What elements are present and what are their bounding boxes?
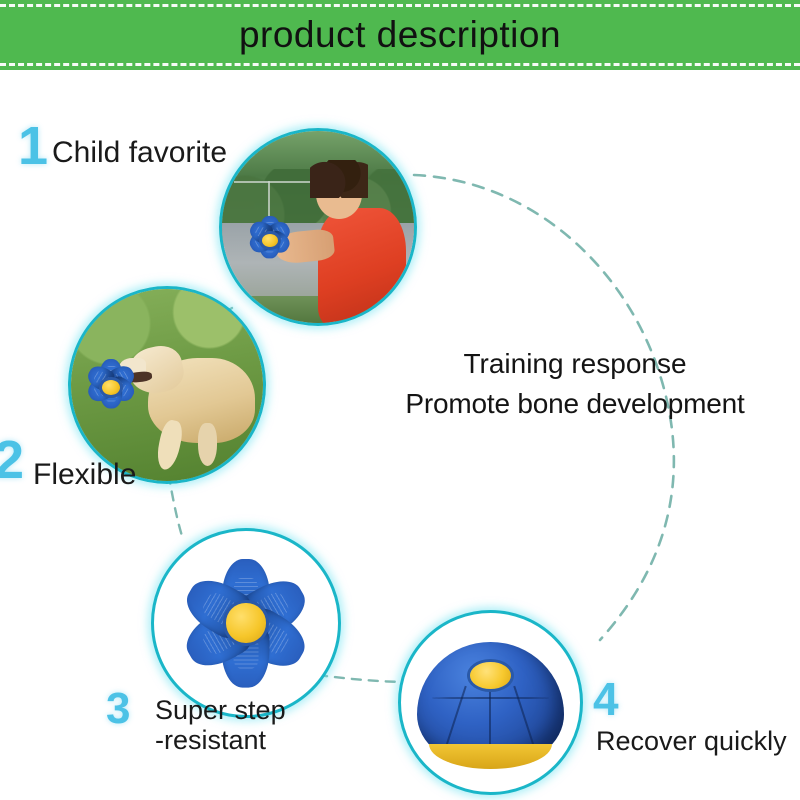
center-headline-line-2: Promote bone development xyxy=(352,384,798,424)
feature-caption-4: Recover quickly xyxy=(596,726,787,756)
disc-center-hub xyxy=(102,380,120,395)
ball-center-hub xyxy=(470,662,511,690)
photo-dog-chasing-disc xyxy=(71,289,263,481)
disc-petals-large xyxy=(176,553,316,693)
photo-disc-midair xyxy=(79,362,144,416)
center-headline-line-1: Training response xyxy=(352,344,798,384)
feature-image-recover-quickly xyxy=(398,610,583,795)
photo-dog-hind-leg xyxy=(198,423,217,465)
feature-image-flexible xyxy=(68,286,266,484)
header-banner: product description xyxy=(0,0,800,70)
feature-caption-1: Child favorite xyxy=(52,136,227,170)
feature-number-3: 3 xyxy=(106,687,130,731)
disc-petals-small xyxy=(79,362,144,416)
photo-boy-hair xyxy=(310,160,368,198)
page-title: product description xyxy=(239,14,561,56)
photo-disc-in-hand xyxy=(241,219,299,265)
banner-stitch-top xyxy=(0,4,800,7)
ball-seam-equator xyxy=(432,697,549,699)
banner-stitch-bottom xyxy=(0,63,800,66)
ball-art xyxy=(417,642,564,767)
connector-3-to-4 xyxy=(318,675,410,682)
ball-yellow-base xyxy=(429,744,552,769)
disc-center-hub xyxy=(226,603,265,642)
product-ball-popped-up xyxy=(417,642,564,767)
product-description-infographic: product description xyxy=(0,0,800,800)
feature-number-2: 2 xyxy=(0,433,24,487)
photo-boy-red-shirt xyxy=(318,208,406,326)
center-headline: Training response Promote bone developme… xyxy=(352,344,798,424)
feature-number-4: 4 xyxy=(593,676,619,722)
feature-image-super-step-resistant xyxy=(151,528,341,718)
feature-caption-3: Super step -resistant xyxy=(155,695,286,755)
product-disc-flattened xyxy=(176,553,316,693)
disc-petals-small xyxy=(241,219,299,265)
feature-number-1: 1 xyxy=(18,119,48,173)
feature-caption-2: Flexible xyxy=(33,458,136,492)
